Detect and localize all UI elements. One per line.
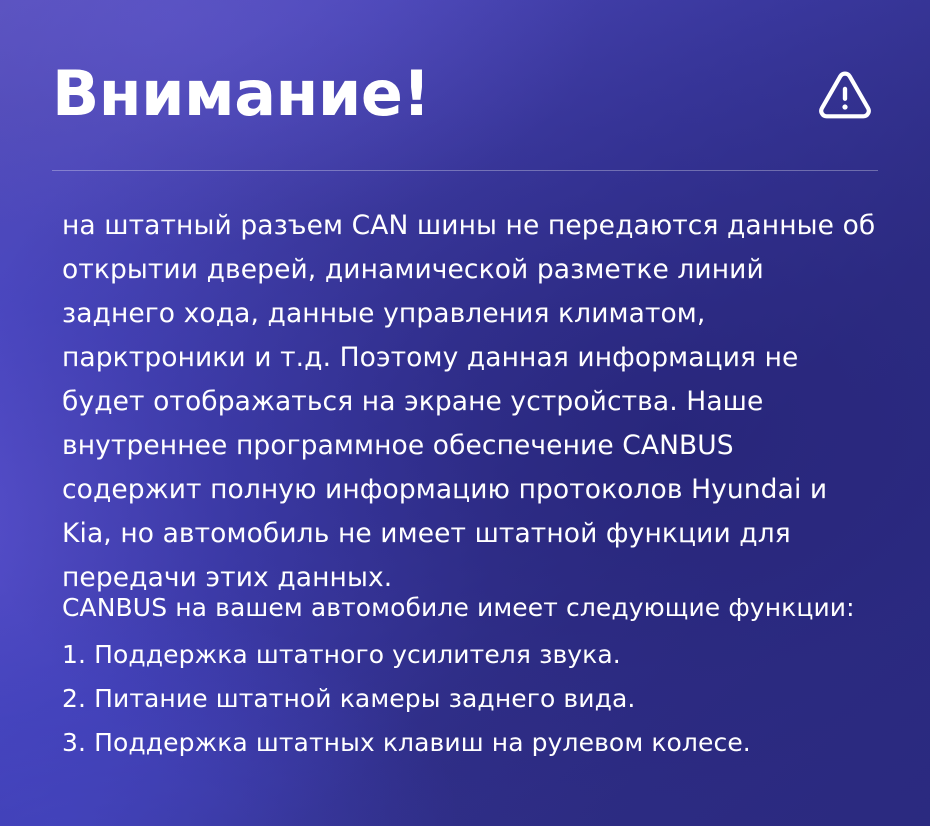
- page-title: Внимание!: [52, 63, 430, 125]
- list-item: 3. Поддержка штатных клавиш на рулевом к…: [62, 721, 880, 765]
- features-section: CANBUS на вашем автомобиле имеет следующ…: [62, 588, 880, 765]
- notice-content: Внимание! на штатный разъем CAN шины не …: [0, 0, 930, 826]
- attention-notice-card: Внимание! на штатный разъем CAN шины не …: [0, 0, 930, 826]
- features-intro: CANBUS на вашем автомобиле имеет следующ…: [62, 588, 880, 628]
- warning-triangle-icon: [816, 65, 874, 123]
- features-list: 1. Поддержка штатного усилителя звука. 2…: [62, 633, 880, 765]
- notice-header: Внимание!: [52, 44, 878, 144]
- list-item: 2. Питание штатной камеры заднего вида.: [62, 677, 880, 721]
- header-divider: [52, 170, 878, 171]
- notice-paragraph: на штатный разъем CAN шины не передаются…: [62, 204, 880, 600]
- notice-body: на штатный разъем CAN шины не передаются…: [62, 204, 880, 600]
- list-item: 1. Поддержка штатного усилителя звука.: [62, 633, 880, 677]
